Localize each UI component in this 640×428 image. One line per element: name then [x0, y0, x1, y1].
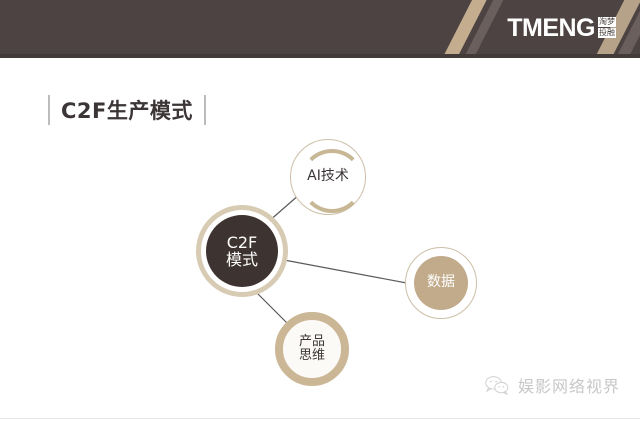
- wechat-icon: [484, 374, 510, 396]
- link-c2f-data: [284, 260, 412, 284]
- diagram-node-c2f-disc: C2F 模式: [206, 215, 278, 287]
- header-bar: TMENG 淘梦 投融: [0, 0, 640, 58]
- logo-cn-line1: 淘梦: [598, 17, 616, 27]
- diagram-node-data-disc: 数据: [414, 256, 468, 310]
- logo-cn-line2: 投融: [598, 28, 616, 38]
- slide-canvas: TMENG 淘梦 投融 C2F生产模式 C2F 模式: [0, 0, 640, 428]
- logo-chinese-mark: 淘梦 投融: [598, 16, 616, 40]
- diagram-node-data-label: 数据: [427, 275, 455, 290]
- watermark: 娱影网络视界: [484, 373, 620, 397]
- logo-wordmark: TMENG: [507, 14, 595, 42]
- watermark-text: 娱影网络视界: [518, 373, 620, 397]
- diagram-node-ai-label: AI技术: [307, 169, 349, 184]
- diagram-node-ai[interactable]: AI技术: [290, 139, 366, 215]
- diagram-node-data[interactable]: 数据: [405, 247, 477, 319]
- diagram-node-product-label: 产品 思维: [299, 335, 325, 363]
- diagram-node-product[interactable]: 产品 思维: [275, 312, 349, 386]
- diagram-node-c2f[interactable]: C2F 模式: [196, 205, 288, 297]
- diagram-node-c2f-label: C2F 模式: [226, 234, 258, 269]
- link-c2f-product: [256, 292, 288, 324]
- bottom-divider: [0, 418, 640, 419]
- tmeng-logo: TMENG 淘梦 投融: [507, 14, 616, 42]
